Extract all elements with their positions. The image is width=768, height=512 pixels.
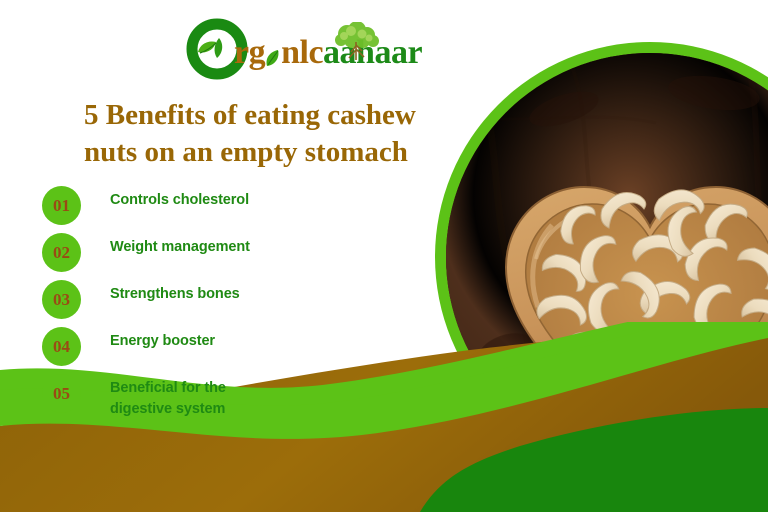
infographic-canvas: rgnlcaahaar — [0, 0, 768, 512]
list-item: 05 Beneficial for the digestive system — [42, 373, 372, 420]
logo-text-nlc: nlc — [281, 34, 323, 71]
logo-leaf-a-icon — [265, 46, 281, 66]
title-line-1: 5 Benefits of eating cashew — [84, 97, 464, 134]
benefit-label: Energy booster — [110, 331, 215, 352]
benefit-number-badge: 05 — [42, 374, 81, 413]
brand-logo[interactable]: rgnlcaahaar — [186, 14, 422, 80]
benefit-number-badge: 04 — [42, 327, 81, 366]
list-item: 04 Energy booster — [42, 326, 372, 373]
benefit-number-badge: 03 — [42, 280, 81, 319]
logo-wordmark: rgnlcaahaar — [234, 36, 422, 70]
page-title: 5 Benefits of eating cashew nuts on an e… — [84, 97, 464, 171]
benefit-number-badge: 02 — [42, 233, 81, 272]
logo-tree-icon — [329, 22, 383, 62]
list-item: 03 Strengthens bones — [42, 279, 372, 326]
benefit-label: Controls cholesterol — [110, 190, 249, 211]
list-item: 01 Controls cholesterol — [42, 185, 372, 232]
logo-leaves-icon — [198, 38, 222, 58]
benefit-label: Weight management — [110, 237, 250, 258]
benefits-list: 01 Controls cholesterol 02 Weight manage… — [42, 185, 372, 420]
benefit-label: Beneficial for the digestive system — [110, 378, 270, 420]
title-line-2: nuts on an empty stomach — [84, 134, 464, 171]
list-item: 02 Weight management — [42, 232, 372, 279]
benefit-number-badge: 01 — [42, 186, 81, 225]
benefit-label: Strengthens bones — [110, 284, 240, 305]
logo-text-rg: rg — [234, 34, 265, 71]
